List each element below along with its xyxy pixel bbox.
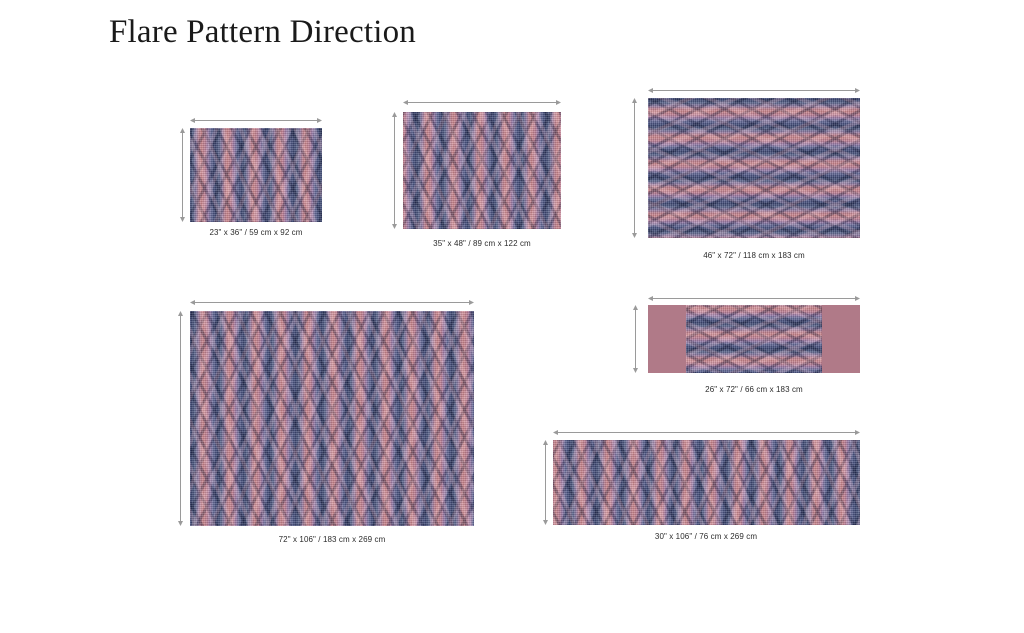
size-caption-text: 23" x 36" / 59 cm x 92 cm (209, 228, 302, 237)
page-title: Flare Pattern Direction (109, 14, 416, 51)
width-dimension-arrow (644, 86, 864, 95)
pattern-swatch[interactable] (553, 440, 860, 525)
size-caption-text: 30" x 106" / 76 cm x 269 cm (655, 532, 757, 541)
weave-layer (648, 98, 860, 238)
width-dimension-arrow (399, 98, 565, 107)
pattern-swatch[interactable] (190, 311, 474, 526)
height-dimension-arrow (541, 436, 550, 529)
width-dimension-arrow (186, 298, 478, 307)
height-dimension-arrow (176, 307, 185, 530)
width-dimension-arrow (644, 294, 864, 303)
size-caption-text: 35" x 48" / 89 cm x 122 cm (433, 239, 531, 248)
pattern-swatch[interactable] (648, 98, 860, 238)
width-dimension-arrow (186, 116, 326, 125)
weave-layer (190, 311, 474, 526)
weave-texture (190, 311, 474, 526)
weave-texture (686, 305, 822, 373)
weave-texture (553, 440, 860, 525)
weave-layer (190, 128, 322, 222)
size-caption-text: 72" x 106" / 183 cm x 269 cm (279, 535, 386, 544)
weave-texture (403, 112, 561, 229)
height-dimension-arrow (178, 124, 187, 226)
weave-layer (686, 305, 822, 373)
height-dimension-arrow (630, 94, 639, 242)
size-caption-text: 26" x 72" / 66 cm x 183 cm (705, 385, 803, 394)
weave-texture (648, 98, 860, 238)
height-dimension-arrow (631, 301, 640, 377)
weave-layer (403, 112, 561, 229)
height-dimension-arrow (390, 108, 399, 233)
pattern-swatch[interactable] (648, 305, 860, 373)
size-caption-text: 46" x 72" / 118 cm x 183 cm (703, 251, 805, 260)
pattern-swatch[interactable] (190, 128, 322, 222)
pattern-swatch[interactable] (403, 112, 561, 229)
weave-layer (553, 440, 860, 525)
weave-texture (190, 128, 322, 222)
width-dimension-arrow (549, 428, 864, 437)
size-chart-canvas: Flare Pattern Direction 23" x 36" / 59 c… (0, 0, 1024, 633)
